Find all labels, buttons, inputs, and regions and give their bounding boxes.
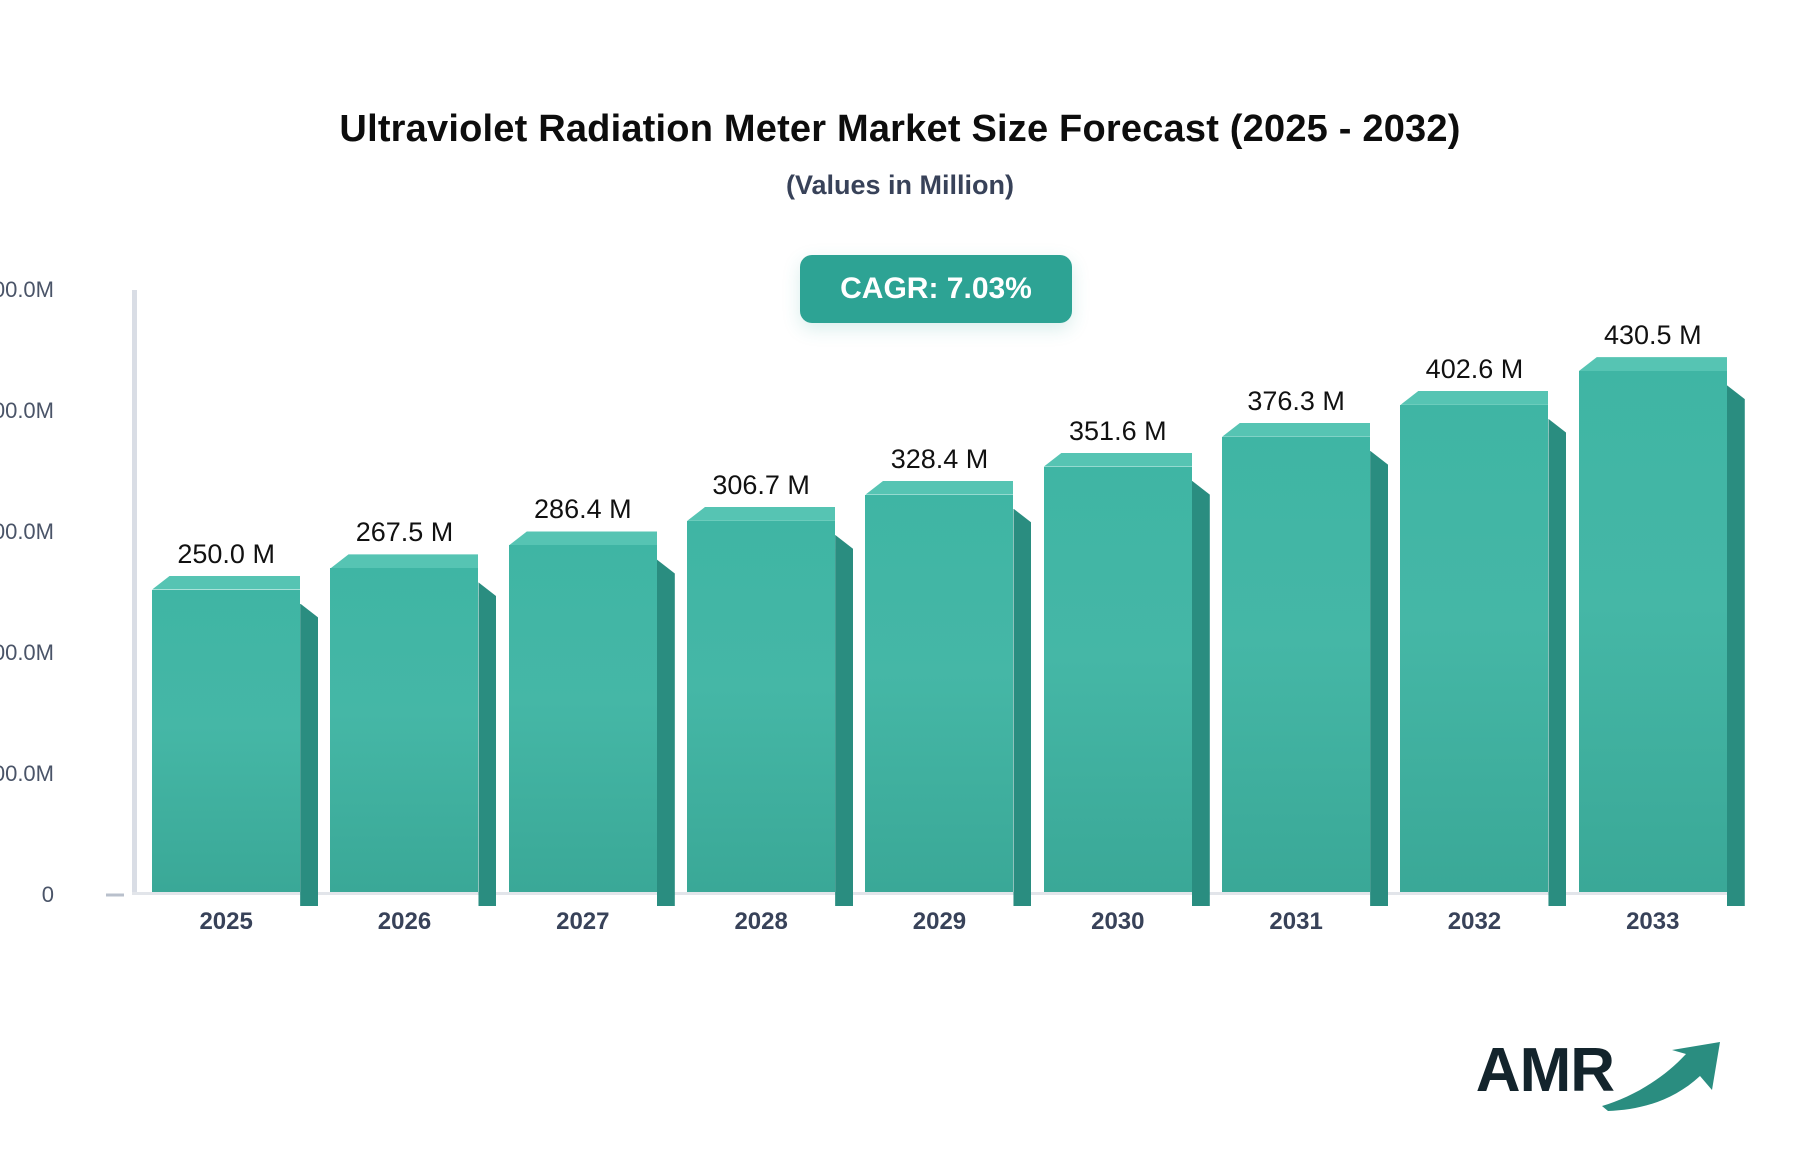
y-axis-tick-label: 0 (0, 882, 54, 908)
bar-side-face (835, 535, 853, 906)
bar-value-label: 430.5 M (1604, 320, 1702, 351)
bar-top-face (865, 481, 1013, 495)
bar-side-face (300, 604, 318, 907)
bar[interactable]: 306.7 M (687, 521, 835, 892)
bar-side-face (1370, 451, 1388, 906)
x-axis-line (132, 892, 1742, 895)
growth-arrow-icon (1600, 1040, 1730, 1112)
bar-value-label: 306.7 M (712, 470, 810, 501)
bar-value-label: 376.3 M (1247, 386, 1345, 417)
bar[interactable]: 250.0 M (152, 590, 300, 893)
bar-value-label: 328.4 M (891, 444, 989, 475)
bar-top-face (1400, 391, 1548, 405)
bar[interactable]: 376.3 M (1222, 437, 1370, 892)
bar-top-face (152, 576, 300, 590)
bar-side-face (1192, 481, 1210, 906)
bar-face (865, 495, 1013, 892)
y-axis-tick-label: 300.0M (0, 519, 54, 545)
bar[interactable]: 351.6 M (1044, 467, 1192, 892)
bar-value-label: 250.0 M (177, 539, 275, 570)
bar-value-label: 351.6 M (1069, 416, 1167, 447)
bar-value-label: 286.4 M (534, 494, 632, 525)
x-axis-tick-label: 2031 (1208, 908, 1384, 936)
x-axis-tick-label: 2026 (316, 908, 492, 936)
bar-face (1579, 371, 1727, 892)
chart-container: Ultraviolet Radiation Meter Market Size … (0, 0, 1800, 1156)
bar-top-face (330, 554, 478, 568)
bar[interactable]: 267.5 M (330, 568, 478, 892)
bar-top-face (1222, 423, 1370, 437)
bar-face (509, 545, 657, 892)
y-axis-tick-label: 100.0M (0, 761, 54, 787)
logo-text: AMR (1476, 1040, 1614, 1102)
page-title: Ultraviolet Radiation Meter Market Size … (0, 108, 1800, 151)
x-axis-labels: 202520262027202820292030203120322033 (137, 908, 1742, 936)
bar[interactable]: 286.4 M (509, 545, 657, 892)
x-axis-tick-label: 2029 (851, 908, 1027, 936)
bar-top-face (509, 531, 657, 545)
bar-side-face (1548, 419, 1566, 906)
bar[interactable]: 430.5 M (1579, 371, 1727, 892)
amr-logo: AMR (1476, 1030, 1730, 1112)
bar-face (152, 590, 300, 893)
bar[interactable]: 402.6 M (1400, 405, 1548, 892)
bar-value-label: 402.6 M (1426, 354, 1524, 385)
bar-slot[interactable]: 376.3 M (1208, 290, 1384, 892)
y-axis-tick-mark (106, 894, 124, 897)
bar-slot[interactable]: 430.5 M (1565, 290, 1741, 892)
y-axis-tick-label: 400.0M (0, 398, 54, 424)
bar-side-face (657, 559, 675, 906)
bar-top-face (687, 507, 835, 521)
x-axis-tick-label: 2025 (138, 908, 314, 936)
bar-face (330, 568, 478, 892)
x-axis-tick-label: 2028 (673, 908, 849, 936)
bar-slot[interactable]: 286.4 M (495, 290, 671, 892)
bar-series: 250.0 M267.5 M286.4 M306.7 M328.4 M351.6… (137, 290, 1742, 892)
bar[interactable]: 328.4 M (865, 495, 1013, 892)
bar-top-face (1579, 357, 1727, 371)
bar-side-face (1013, 509, 1031, 906)
bar-slot[interactable]: 306.7 M (673, 290, 849, 892)
bar-slot[interactable]: 328.4 M (851, 290, 1027, 892)
bar-slot[interactable]: 267.5 M (316, 290, 492, 892)
y-axis-tick-label: 500.0M (0, 277, 54, 303)
bar-side-face (1727, 385, 1745, 906)
bar-face (1400, 405, 1548, 892)
bar-slot[interactable]: 402.6 M (1386, 290, 1562, 892)
chart-subtitle: (Values in Million) (0, 170, 1800, 201)
x-axis-tick-label: 2030 (1030, 908, 1206, 936)
x-axis-tick-label: 2032 (1386, 908, 1562, 936)
bar-side-face (478, 582, 496, 906)
bar-top-face (1044, 453, 1192, 467)
bar-face (687, 521, 835, 892)
bar-face (1222, 437, 1370, 892)
bar-value-label: 267.5 M (356, 517, 454, 548)
x-axis-tick-label: 2027 (495, 908, 671, 936)
x-axis-tick-label: 2033 (1565, 908, 1741, 936)
bar-face (1044, 467, 1192, 892)
y-axis-tick-label: 200.0M (0, 640, 54, 666)
bar-slot[interactable]: 351.6 M (1030, 290, 1206, 892)
plot-area: 0100.0M200.0M300.0M400.0M500.0M 250.0 M2… (132, 290, 1742, 895)
bar-slot[interactable]: 250.0 M (138, 290, 314, 892)
